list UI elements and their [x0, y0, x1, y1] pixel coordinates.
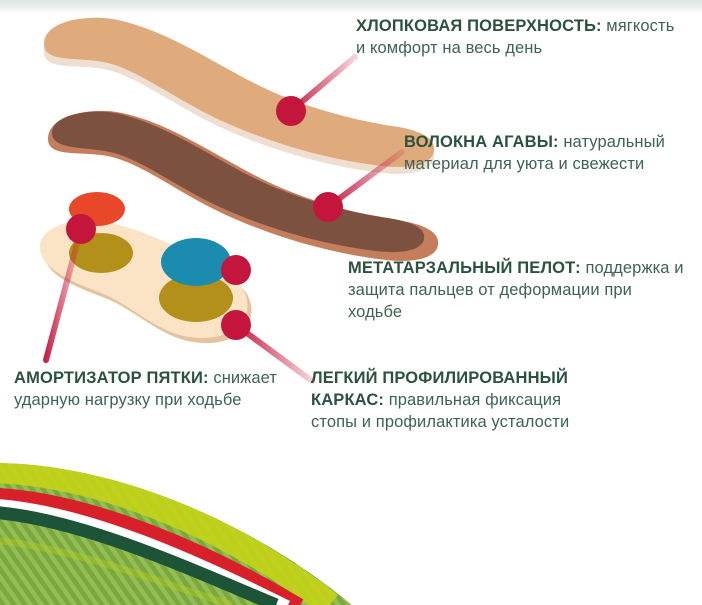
callout-cotton-surface: ХЛОПКОВАЯ ПОВЕРХНОСТЬ: мягкость и комфор… [356, 16, 676, 60]
marker-pelot-dot [221, 255, 251, 285]
callout-metatarsal-pad: МЕТАТАРЗАЛЬНЫЙ ПЕЛОТ: поддержка и защита… [348, 258, 688, 324]
green-field-decoration [0, 463, 352, 605]
marker-heel-dot [66, 214, 96, 244]
insole-infographic: ХЛОПКОВАЯ ПОВЕРХНОСТЬ: мягкость и комфор… [0, 0, 702, 605]
callout-agave-fibers: ВОЛОКНА АГАВЫ: натуральный материал для … [404, 132, 684, 176]
marker-cotton-dot [276, 96, 306, 126]
callout-profiled-frame: ЛЕГКИЙ ПРОФИЛИРОВАННЫЙ КАРКАС: правильна… [311, 368, 611, 434]
metatarsal-pad-insert [161, 238, 231, 286]
callout-heel-heading: АМОРТИЗАТОР ПЯТКИ: [14, 369, 209, 387]
marker-frame-dot [221, 310, 251, 340]
callout-agave-heading: ВОЛОКНА АГАВЫ: [404, 133, 559, 151]
callout-cotton-heading: ХЛОПКОВАЯ ПОВЕРХНОСТЬ: [356, 17, 602, 35]
callout-heel-absorber: АМОРТИЗАТОР ПЯТКИ: снижает ударную нагру… [14, 368, 304, 412]
callout-pelot-heading: МЕТАТАРЗАЛЬНЫЙ ПЕЛОТ: [348, 259, 581, 277]
marker-agave-dot [313, 192, 343, 222]
